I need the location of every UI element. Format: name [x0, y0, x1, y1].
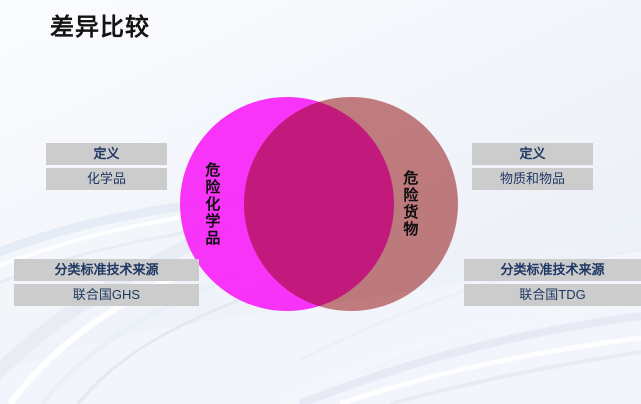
left-source-header: 分类标准技术来源	[14, 259, 199, 281]
right-definition-group: 定义 物质和物品	[472, 143, 593, 190]
slide-canvas: 差异比较 危险化学品 危险货物 定义 化学品 分类标准技术来源 联合国GHS 定…	[0, 0, 641, 404]
right-definition-value: 物质和物品	[472, 168, 593, 190]
right-definition-header: 定义	[472, 143, 593, 165]
left-source-group: 分类标准技术来源 联合国GHS	[14, 259, 199, 306]
page-title: 差异比较	[50, 14, 150, 43]
right-source-header: 分类标准技术来源	[464, 259, 641, 281]
venn-diagram: 危险化学品 危险货物	[180, 97, 458, 313]
left-definition-header: 定义	[46, 143, 167, 165]
right-source-group: 分类标准技术来源 联合国TDG	[464, 259, 641, 306]
right-source-value: 联合国TDG	[464, 284, 641, 306]
venn-label-left: 危险化学品	[198, 97, 224, 311]
left-definition-group: 定义 化学品	[46, 143, 167, 190]
venn-circle-right	[244, 97, 458, 311]
left-definition-value: 化学品	[46, 168, 167, 190]
venn-label-right: 危险货物	[396, 97, 422, 311]
left-source-value: 联合国GHS	[14, 284, 199, 306]
